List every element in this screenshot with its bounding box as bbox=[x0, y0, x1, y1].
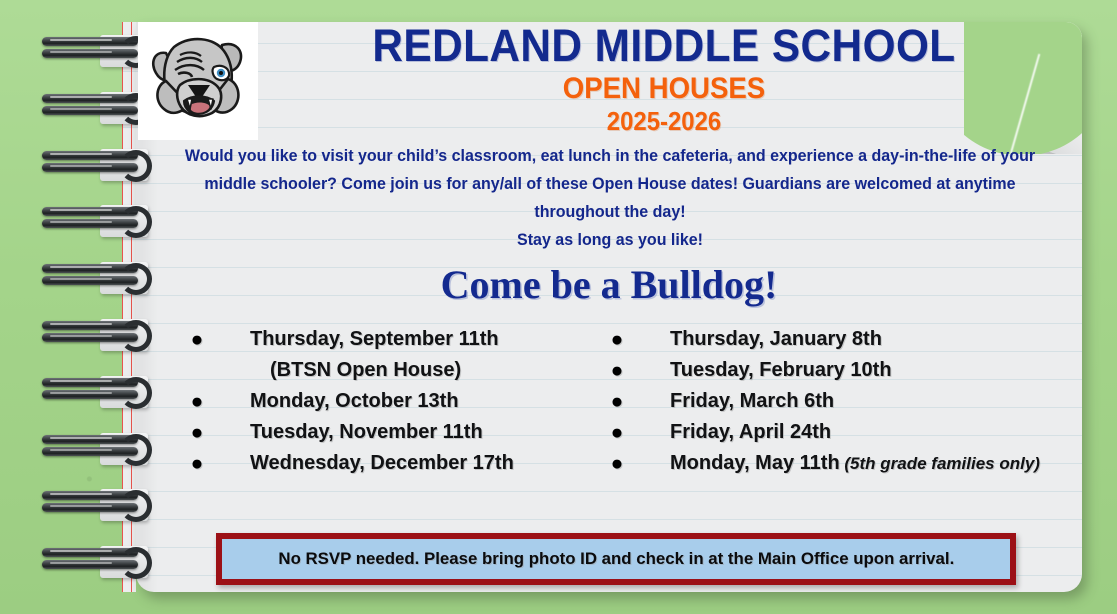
ring-highlight-bottom bbox=[50, 392, 112, 394]
school-year: 2025-2026 bbox=[296, 106, 1032, 136]
rsvp-banner-text: No RSVP needed. Please bring photo ID an… bbox=[278, 549, 954, 569]
ring-highlight-top bbox=[50, 39, 112, 41]
ring-highlight-top bbox=[50, 380, 112, 382]
ring-highlight-top bbox=[50, 550, 112, 552]
date-label: Thursday, September 11th bbox=[250, 324, 499, 355]
date-list-item: ●Wednesday, December 17th bbox=[188, 448, 588, 479]
date-list-item: ●Thursday, September 11th bbox=[188, 324, 588, 355]
spiral-ring bbox=[42, 377, 148, 407]
ring-highlight-top bbox=[50, 153, 112, 155]
ring-highlight-bottom bbox=[50, 449, 112, 451]
ring-highlight-bottom bbox=[50, 51, 112, 53]
ring-highlight-bottom bbox=[50, 562, 112, 564]
date-label: Thursday, January 8th bbox=[670, 324, 882, 355]
date-list-item: (BTSN Open House) bbox=[188, 355, 588, 386]
spiral-ring bbox=[42, 490, 148, 520]
dates-column-right: ●Thursday, January 8th●Tuesday, February… bbox=[608, 324, 1078, 479]
intro-line-3: Stay as long as you like! bbox=[164, 226, 1056, 254]
date-label: Tuesday, February 10th bbox=[670, 355, 892, 386]
ring-highlight-bottom bbox=[50, 165, 112, 167]
bullet-icon: ● bbox=[608, 355, 626, 386]
ring-highlight-bottom bbox=[50, 108, 112, 110]
event-subtitle: OPEN HOUSES bbox=[296, 72, 1032, 106]
bullet-icon: ● bbox=[188, 386, 206, 417]
date-note: (5th grade families only) bbox=[840, 454, 1040, 473]
bullet-icon: ● bbox=[188, 324, 206, 355]
spiral-ring bbox=[42, 434, 148, 464]
ring-highlight-bottom bbox=[50, 335, 112, 337]
ring-highlight-top bbox=[50, 266, 112, 268]
open-house-dates: ●Thursday, September 11th(BTSN Open Hous… bbox=[136, 324, 1082, 484]
title-block: REDLAND MIDDLE SCHOOL OPEN HOUSES 2025-2… bbox=[264, 20, 1064, 136]
spiral-ring bbox=[42, 320, 148, 350]
tagline-heading: Come be a Bulldog! bbox=[136, 262, 1082, 308]
date-list-item: ●Monday, May 11th (5th grade families on… bbox=[608, 448, 1078, 479]
date-label: Monday, October 13th bbox=[250, 386, 459, 417]
poster-content: REDLAND MIDDLE SCHOOL OPEN HOUSES 2025-2… bbox=[136, 22, 1082, 592]
date-list-item: ●Tuesday, November 11th bbox=[188, 417, 588, 448]
spiral-ring bbox=[42, 93, 148, 123]
poster-canvas: REDLAND MIDDLE SCHOOL OPEN HOUSES 2025-2… bbox=[0, 0, 1117, 614]
spiral-ring bbox=[42, 263, 148, 293]
ring-highlight-bottom bbox=[50, 278, 112, 280]
bullet-icon: ● bbox=[608, 448, 626, 479]
date-list-item: ●Friday, March 6th bbox=[608, 386, 1078, 417]
bullet-icon bbox=[188, 355, 206, 386]
date-list-item: ●Monday, October 13th bbox=[188, 386, 588, 417]
bullet-icon: ● bbox=[608, 386, 626, 417]
date-list-item: ●Friday, April 24th bbox=[608, 417, 1078, 448]
school-name-title: REDLAND MIDDLE SCHOOL bbox=[288, 20, 1040, 72]
ring-highlight-top bbox=[50, 323, 112, 325]
date-label: Wednesday, December 17th bbox=[250, 448, 514, 479]
date-label: Friday, April 24th bbox=[670, 417, 831, 448]
date-label: Monday, May 11th bbox=[670, 448, 840, 479]
ring-highlight-top bbox=[50, 96, 112, 98]
spiral-ring bbox=[42, 206, 148, 236]
date-label: (BTSN Open House) bbox=[270, 355, 461, 386]
bullet-icon: ● bbox=[608, 417, 626, 448]
date-list-item: ●Tuesday, February 10th bbox=[608, 355, 1078, 386]
dates-column-left: ●Thursday, September 11th(BTSN Open Hous… bbox=[188, 324, 588, 479]
spiral-ring bbox=[42, 36, 148, 66]
ring-highlight-top bbox=[50, 437, 112, 439]
intro-line-2: schooler? Come join us for any/all of th… bbox=[260, 175, 1015, 221]
bullet-icon: ● bbox=[188, 448, 206, 479]
rsvp-banner: No RSVP needed. Please bring photo ID an… bbox=[216, 533, 1016, 585]
date-list-item: ●Thursday, January 8th bbox=[608, 324, 1078, 355]
spiral-ring bbox=[42, 547, 148, 577]
bullet-icon: ● bbox=[188, 417, 206, 448]
spiral-ring bbox=[42, 150, 148, 180]
bulldog-mascot-icon bbox=[138, 22, 258, 140]
bullet-icon: ● bbox=[608, 324, 626, 355]
intro-paragraph: Would you like to visit your child’s cla… bbox=[164, 142, 1056, 254]
date-label: Tuesday, November 11th bbox=[250, 417, 483, 448]
date-label: Friday, March 6th bbox=[670, 386, 834, 417]
